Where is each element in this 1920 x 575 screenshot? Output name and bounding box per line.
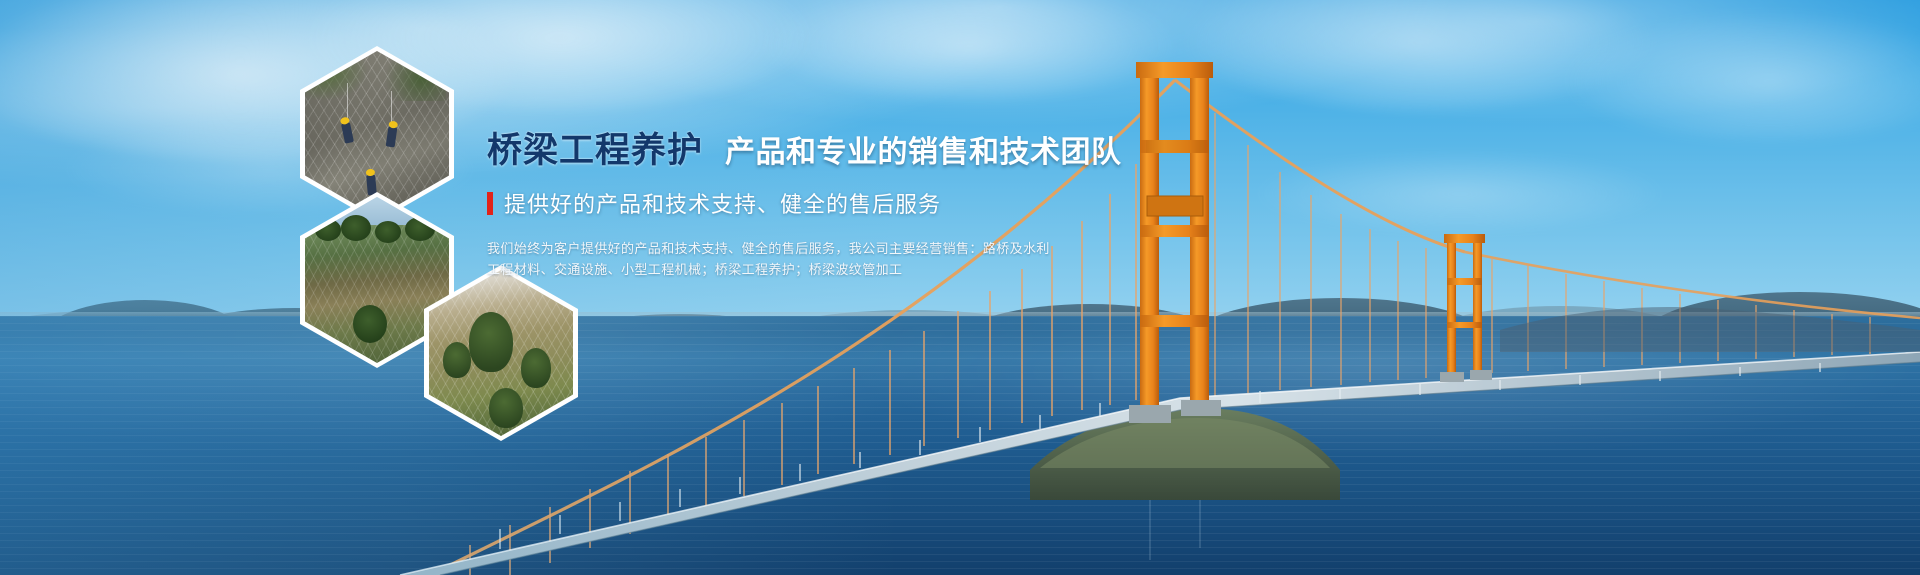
description-line-2: 工程材料、交通设施、小型工程机械；桥梁工程养护；桥梁波纹管加工 bbox=[487, 259, 1027, 280]
page-subtitle-strong: 产品和专业的销售和技术团队 bbox=[725, 127, 1122, 171]
banner-title-row: 桥梁工程养护 产品和专业的销售和技术团队 bbox=[487, 122, 1187, 173]
hero-banner: 桥梁工程养护 产品和专业的销售和技术团队 提供好的产品和技术支持、健全的售后服务… bbox=[0, 0, 1920, 575]
banner-subtitle: 提供好的产品和技术支持、健全的售后服务 bbox=[487, 187, 1187, 219]
subtitle-text: 提供好的产品和技术支持、健全的售后服务 bbox=[504, 187, 941, 219]
banner-description: 我们始终为客户提供好的产品和技术支持、健全的售后服务，我公司主要经营销售：路桥及… bbox=[487, 238, 1027, 280]
page-title: 桥梁工程养护 bbox=[487, 122, 703, 173]
cloud bbox=[1250, 150, 1670, 230]
banner-text-block: 桥梁工程养护 产品和专业的销售和技术团队 提供好的产品和技术支持、健全的售后服务… bbox=[487, 122, 1187, 280]
hex-photo-grass-slope[interactable] bbox=[424, 265, 578, 441]
description-line-1: 我们始终为客户提供好的产品和技术支持、健全的售后服务，我公司主要经营销售：路桥及… bbox=[487, 238, 1027, 259]
accent-bar-icon bbox=[487, 192, 493, 215]
